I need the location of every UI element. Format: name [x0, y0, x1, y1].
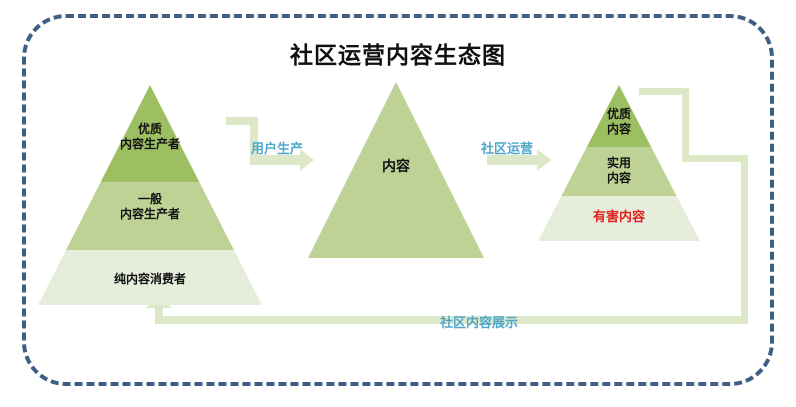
user-pyramid-tier-top-label: 优质 内容生产者 [100, 122, 200, 152]
content-quality-tier-middle-label: 实用 内容 [580, 156, 658, 186]
connector-right-outer-vertical [741, 155, 748, 323]
content-quality-tier-bottom-label: 有害内容 [569, 210, 669, 226]
user-pyramid-tier-middle-label: 一般 内容生产者 [100, 192, 200, 222]
diagram-canvas: 优质 内容生产者 一般 内容生产者 纯内容消费者 内容 优质 内容 实用 内容 … [0, 0, 796, 407]
page-title: 社区运营内容生态图 [0, 36, 796, 70]
content-quality-tier-top-label: 优质 内容 [580, 107, 658, 137]
flow-community-operation-label: 社区运营 [481, 138, 533, 157]
user-pyramid-tier-bottom-label: 纯内容消费者 [90, 272, 210, 287]
content-triangle-label: 内容 [346, 159, 446, 177]
flow-user-production-label: 用户生产 [251, 138, 303, 157]
flow-community-display-label: 社区内容展示 [440, 312, 518, 331]
